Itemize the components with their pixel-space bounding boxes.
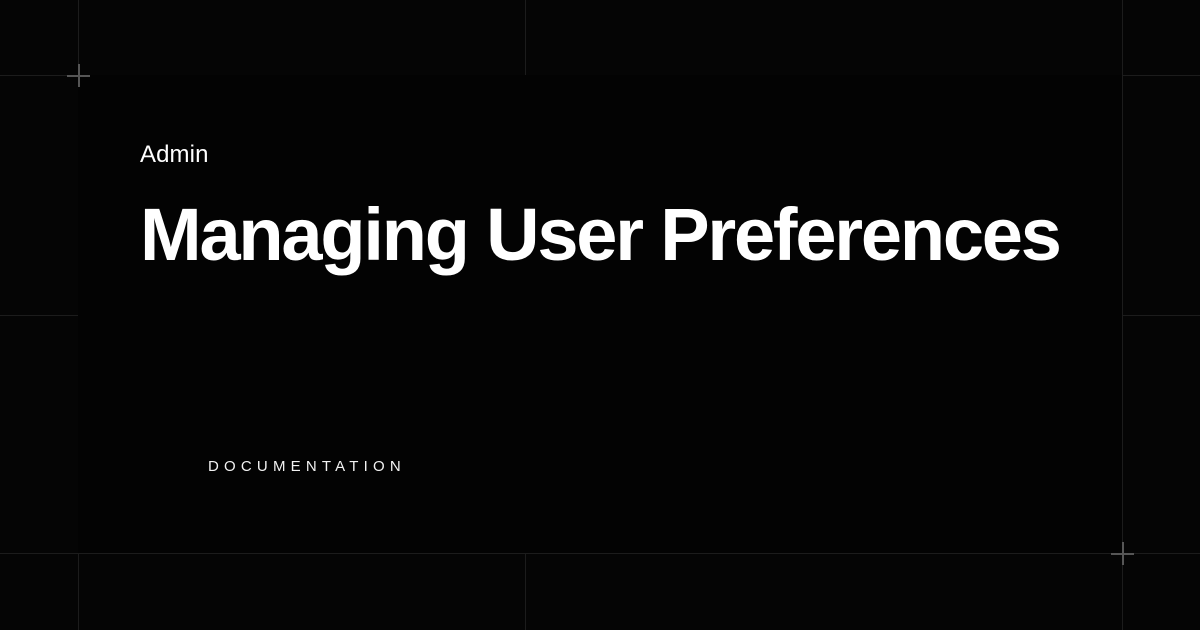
grid-line-vertical xyxy=(1122,0,1123,630)
hero-text-block: Admin Managing User Preferences DOCUMENT… xyxy=(140,0,1060,630)
slide-canvas: Admin Managing User Preferences DOCUMENT… xyxy=(0,0,1200,630)
category-eyebrow: Admin xyxy=(140,141,209,170)
page-title: Managing User Preferences xyxy=(140,196,1060,274)
section-kicker: DOCUMENTATION xyxy=(208,458,406,476)
